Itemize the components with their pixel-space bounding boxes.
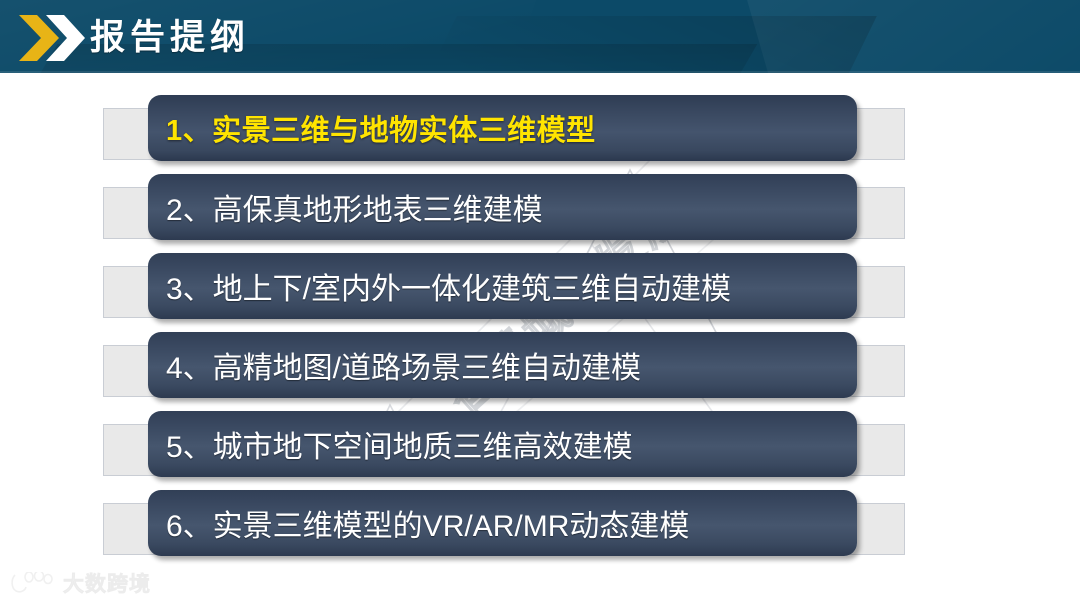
outline-item-label: 3、地上下/室内外一体化建筑三维自动建模 [166, 264, 731, 308]
outline-item-6[interactable]: 6、实景三维模型的VR/AR/MR动态建模 [0, 490, 1080, 569]
outline-pill[interactable]: 1、实景三维与地物实体三维模型 [148, 95, 857, 161]
slide-header: 报告提纲 [0, 0, 1080, 73]
outline-pill[interactable]: 4、高精地图/道路场景三维自动建模 [148, 332, 857, 398]
footer-logo-text: 大数跨境 [63, 568, 151, 598]
page-title: 报告提纲 [90, 8, 250, 68]
header-divider [0, 71, 1080, 73]
paw-circles-icon [10, 572, 56, 594]
outline-item-5[interactable]: 5、城市地下空间地质三维高效建模 [0, 411, 1080, 490]
outline-list: 1、实景三维与地物实体三维模型 2、高保真地形地表三维建模 3、地上下/室内外一… [0, 95, 1080, 569]
outline-item-label: 5、城市地下空间地质三维高效建模 [166, 422, 633, 466]
outline-item-3[interactable]: 3、地上下/室内外一体化建筑三维自动建模 [0, 253, 1080, 332]
outline-item-label: 1、实景三维与地物实体三维模型 [166, 107, 596, 149]
slide: 报告提纲 智慧城市发展 1、实景三维与 [0, 0, 1080, 608]
outline-pill[interactable]: 3、地上下/室内外一体化建筑三维自动建模 [148, 253, 857, 319]
outline-pill[interactable]: 5、城市地下空间地质三维高效建模 [148, 411, 857, 477]
outline-item-2[interactable]: 2、高保真地形地表三维建模 [0, 174, 1080, 253]
outline-item-label: 2、高保真地形地表三维建模 [166, 185, 543, 229]
outline-pill[interactable]: 6、实景三维模型的VR/AR/MR动态建模 [148, 490, 857, 556]
double-chevron-icon [19, 15, 85, 61]
outline-item-label: 6、实景三维模型的VR/AR/MR动态建模 [166, 501, 689, 545]
outline-pill[interactable]: 2、高保真地形地表三维建模 [148, 174, 857, 240]
footer-watermark-logo: 大数跨境 [10, 568, 230, 598]
outline-item-1[interactable]: 1、实景三维与地物实体三维模型 [0, 95, 1080, 174]
header-shade-right [741, 0, 1080, 73]
outline-item-4[interactable]: 4、高精地图/道路场景三维自动建模 [0, 332, 1080, 411]
outline-item-label: 4、高精地图/道路场景三维自动建模 [166, 343, 641, 387]
